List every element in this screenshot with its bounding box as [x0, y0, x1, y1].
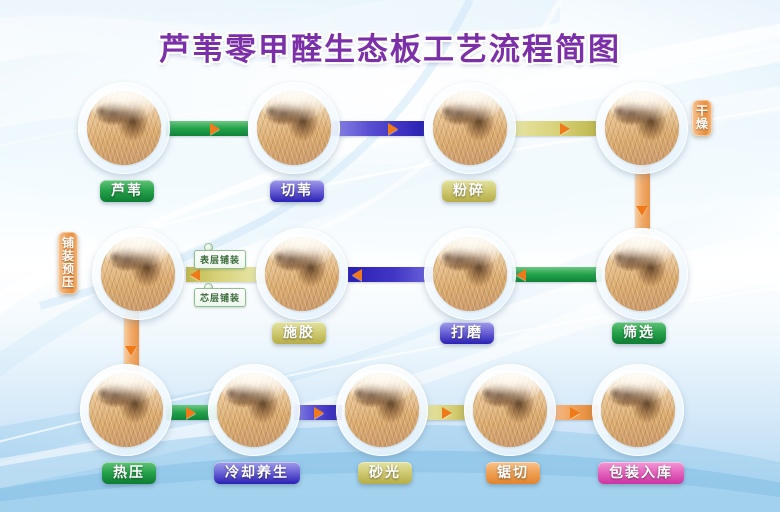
node-row1-1[interactable]: [78, 82, 170, 174]
label-node-row3-3: 砂光: [358, 462, 412, 484]
flow-diagram-poster: 芦苇零甲醛生态板工艺流程简图 芦苇 切苇 粉碎 干燥 表层铺装: [0, 0, 780, 512]
label-node-row3-5: 包装入库: [598, 462, 684, 484]
node-row1-3[interactable]: [424, 82, 516, 174]
reed-photo-icon: [87, 91, 161, 165]
node-row1-2[interactable]: [248, 82, 340, 174]
arrow-left-icon-row2-3: [516, 269, 526, 281]
reed-photo-icon: [89, 373, 163, 447]
node-row3-5[interactable]: [592, 364, 684, 456]
reed-photo-icon: [265, 237, 339, 311]
connector-row1-3: [502, 121, 596, 136]
connector-row1-2: [332, 121, 424, 136]
stage-label-prepress: 铺装预压: [58, 232, 78, 294]
arrow-down-icon-row2-to-row3: [125, 346, 137, 356]
arrow-left-icon-row2-1: [190, 269, 200, 281]
connector-row1-1: [166, 121, 248, 136]
page-title: 芦苇零甲醛生态板工艺流程简图: [0, 24, 780, 69]
label-node-row3-2: 冷却养生: [214, 462, 300, 484]
node-row2-1[interactable]: [92, 228, 184, 320]
node-row1-4[interactable]: [596, 82, 688, 174]
reed-photo-icon: [433, 91, 507, 165]
stage-label-drying-char-1: 干燥: [692, 105, 712, 131]
label-node-row3-4: 锯切: [486, 462, 540, 484]
label-node-row3-1: 热压: [102, 462, 156, 484]
label-node-row2-4: 筛选: [612, 322, 666, 344]
stage-label-drying: 干燥: [692, 100, 712, 136]
label-node-row2-2: 施胶: [272, 322, 326, 344]
sublabel-surface-layer: 表层铺装: [194, 250, 246, 269]
node-row3-2[interactable]: [208, 364, 300, 456]
node-row3-3[interactable]: [336, 364, 428, 456]
reed-photo-icon: [605, 91, 679, 165]
reed-photo-icon: [601, 373, 675, 447]
arrow-right-icon-row3-1: [186, 407, 196, 419]
reed-photo-icon: [473, 373, 547, 447]
arrow-left-icon-row2-2: [352, 269, 362, 281]
node-row3-4[interactable]: [464, 364, 556, 456]
arrow-right-icon-row3-4: [570, 407, 580, 419]
label-node-row1-1: 芦苇: [100, 180, 154, 202]
node-row2-2[interactable]: [256, 228, 348, 320]
stage-label-prepress-chars: 铺装预压: [58, 237, 78, 289]
reed-photo-icon: [345, 373, 419, 447]
label-node-row1-3: 粉碎: [442, 180, 496, 202]
arrow-right-icon-row1-3: [560, 123, 570, 135]
arrow-right-icon-row1-1: [210, 123, 220, 135]
reed-photo-icon: [257, 91, 331, 165]
node-row3-1[interactable]: [80, 364, 172, 456]
label-node-row2-3: 打磨: [440, 322, 494, 344]
arrow-right-icon-row3-3: [442, 407, 452, 419]
node-row2-4[interactable]: [596, 228, 688, 320]
arrow-right-icon-row1-2: [388, 123, 398, 135]
reed-photo-icon: [605, 237, 679, 311]
reed-photo-icon: [433, 237, 507, 311]
reed-photo-icon: [101, 237, 175, 311]
arrow-down-icon-row1-to-row2: [636, 206, 648, 216]
sublabel-core-layer: 芯层铺装: [194, 288, 246, 307]
arrow-right-icon-row3-2: [314, 407, 324, 419]
node-row2-3[interactable]: [424, 228, 516, 320]
label-node-row1-2: 切苇: [270, 180, 324, 202]
reed-photo-icon: [217, 373, 291, 447]
